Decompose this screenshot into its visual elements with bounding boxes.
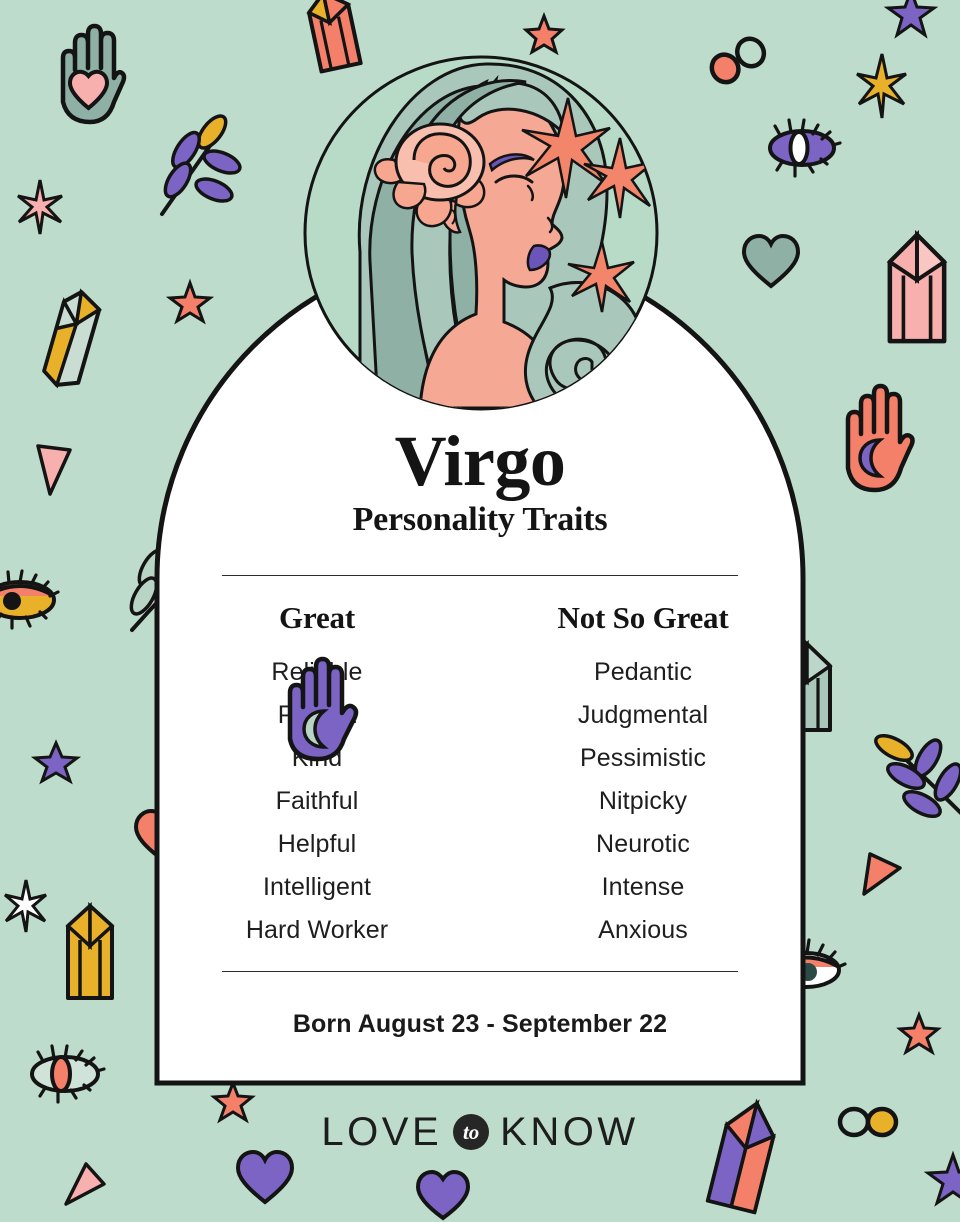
- trait-item: Intelligent: [154, 866, 480, 909]
- eye-icon: [20, 1038, 110, 1106]
- hand-moon-icon: [830, 378, 930, 504]
- traits-column-not-so-great: Not So Great Pedantic Judgmental Pessimi…: [480, 600, 806, 952]
- heart-icon: [414, 1168, 472, 1222]
- hand-heart-icon: [46, 18, 138, 138]
- traits-table: Great Reliable Patient Kind Faithful Hel…: [154, 600, 806, 952]
- star-burst-icon: [16, 178, 64, 236]
- trait-item: Helpful: [154, 823, 480, 866]
- star-icon: [34, 740, 78, 784]
- trait-item: Neurotic: [480, 823, 806, 866]
- triangle-icon: [856, 850, 904, 900]
- trait-item: Pessimistic: [480, 737, 806, 780]
- logo-word-right: KNOW: [500, 1110, 638, 1155]
- trait-item: Hard Worker: [154, 909, 480, 952]
- eye-icon: [0, 560, 74, 632]
- star-icon: [926, 1152, 960, 1206]
- title-block: Virgo Personality Traits: [154, 426, 806, 538]
- crystal-icon: [874, 228, 960, 352]
- trait-item: Judgmental: [480, 694, 806, 737]
- crystal-icon: [52, 900, 128, 1008]
- star-icon: [886, 0, 936, 38]
- star-burst-icon: [856, 52, 908, 120]
- crystal-icon: [38, 285, 118, 395]
- divider-top: [222, 575, 738, 576]
- star-icon: [898, 1012, 940, 1054]
- leaf-sprig-icon: [866, 726, 960, 832]
- page-title: Virgo: [154, 426, 806, 497]
- brand-logo[interactable]: LOVE to KNOW: [0, 1108, 960, 1156]
- leaf-sprig-icon: [150, 110, 250, 220]
- triangle-icon: [34, 440, 76, 500]
- star-icon: [524, 14, 564, 54]
- infinity-icon: [700, 30, 774, 92]
- born-date-range: Born August 23 - September 22: [154, 1010, 806, 1039]
- hand-moon-icon: [268, 653, 382, 767]
- logo-badge: to: [453, 1114, 489, 1150]
- column-header: Great: [154, 600, 480, 636]
- card-content: Virgo Personality Traits Great Reliable …: [154, 248, 806, 1086]
- triangle-icon: [60, 1160, 108, 1210]
- trait-item: Anxious: [480, 909, 806, 952]
- logo-word-left: LOVE: [321, 1110, 442, 1155]
- divider-bottom: [222, 971, 738, 972]
- heart-icon: [234, 1148, 296, 1206]
- trait-item: Nitpicky: [480, 780, 806, 823]
- trait-item: Pedantic: [480, 651, 806, 694]
- column-header: Not So Great: [480, 600, 806, 636]
- page-subtitle: Personality Traits: [154, 501, 806, 538]
- trait-item: Faithful: [154, 780, 480, 823]
- logo-word-middle: to: [463, 1120, 479, 1145]
- star-burst-icon: [4, 878, 48, 934]
- zodiac-poster: Virgo Personality Traits Great Reliable …: [0, 0, 960, 1200]
- eye-icon: [758, 112, 846, 180]
- trait-item: Intense: [480, 866, 806, 909]
